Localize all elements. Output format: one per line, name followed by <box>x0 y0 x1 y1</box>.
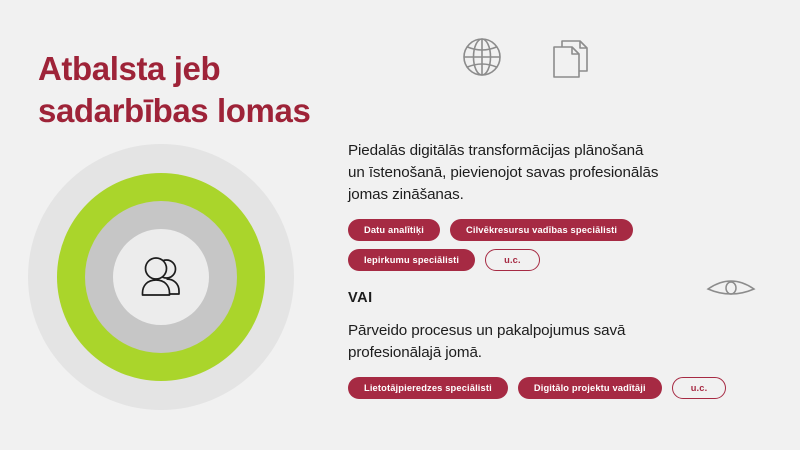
pill-digitalo-projektu-vaditaji[interactable]: Digitālo projektu vadītāji <box>518 377 662 399</box>
decorative-icon-group <box>458 33 594 81</box>
pill-row-two: Lietotājpieredzes speciālisti Digitālo p… <box>348 377 748 399</box>
pill-lietotajpieredzes-specialisti[interactable]: Lietotājpieredzes speciālisti <box>348 377 508 399</box>
content-column: Piedalās digitālās transformācijas plāno… <box>348 140 768 399</box>
pill-cilvekresursu-vadibas-specialisti[interactable]: Cilvēkresursu vadības speciālisti <box>450 219 633 241</box>
paragraph-two: Pārveido procesus un pakalpojumus savā p… <box>348 320 768 364</box>
slide-canvas: Atbalsta jeb sadarbības lomas <box>0 0 800 450</box>
pill-uc-one[interactable]: u.c. <box>485 249 540 271</box>
people-icon <box>134 250 188 304</box>
pill-iepirkumu-specialisti[interactable]: Iepirkumu speciālisti <box>348 249 475 271</box>
page-title: Atbalsta jeb sadarbības lomas <box>38 48 418 132</box>
pill-row-one: Datu analītiķi Cilvēkresursu vadības spe… <box>348 219 748 271</box>
pill-uc-two[interactable]: u.c. <box>672 377 727 399</box>
pill-datu-analitiki[interactable]: Datu analītiķi <box>348 219 440 241</box>
documents-icon <box>546 33 594 81</box>
paragraph-one: Piedalās digitālās transformācijas plāno… <box>348 140 768 206</box>
concentric-rings-graphic <box>28 144 294 410</box>
globe-icon <box>458 33 506 81</box>
divider-label-vai: VAI <box>348 290 768 306</box>
